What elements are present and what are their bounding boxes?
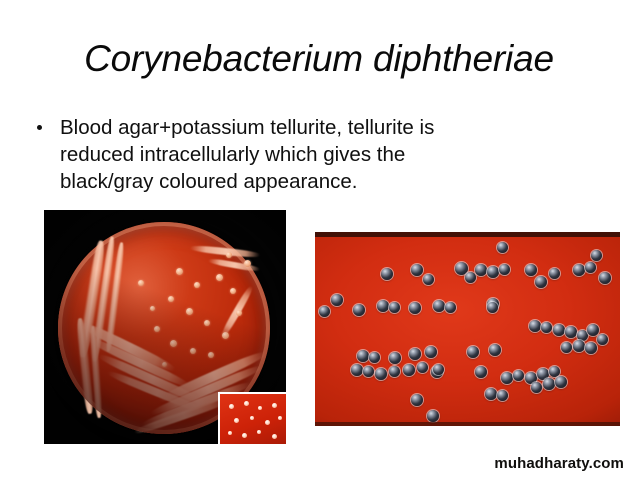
colony xyxy=(389,302,400,313)
inset-colony-dot xyxy=(229,404,234,409)
colony xyxy=(381,268,393,280)
inset-colony-dot xyxy=(234,418,239,423)
photo-top-edge xyxy=(315,232,620,237)
colony xyxy=(475,366,487,378)
colony xyxy=(409,302,421,314)
inset-colony-dot xyxy=(272,403,277,408)
colony xyxy=(487,302,498,313)
colony xyxy=(501,372,513,384)
inset-colony-dot xyxy=(278,416,282,420)
colony xyxy=(467,346,479,358)
inset-colony-dot xyxy=(242,433,247,438)
colony xyxy=(489,344,501,356)
colony xyxy=(425,346,437,358)
colony xyxy=(513,370,524,381)
colony xyxy=(357,350,369,362)
colony xyxy=(485,388,497,400)
colony xyxy=(529,320,541,332)
colony xyxy=(587,324,599,336)
page-title: Corynebacterium diphtheriae xyxy=(0,38,638,80)
colony xyxy=(331,294,343,306)
colony xyxy=(423,274,434,285)
tellurite-colonies-image xyxy=(313,230,622,428)
colony xyxy=(351,364,363,376)
colony xyxy=(565,326,577,338)
colony xyxy=(433,364,444,375)
colony xyxy=(319,306,330,317)
inset-colony-dot xyxy=(272,434,277,439)
colony xyxy=(375,368,387,380)
slide-canvas: Corynebacterium diphtheriae Blood agar+p… xyxy=(0,0,638,479)
colony xyxy=(541,322,552,333)
colony xyxy=(497,390,508,401)
colony xyxy=(389,366,400,377)
colony xyxy=(353,304,365,316)
bullet-dot-icon xyxy=(37,125,42,130)
colony xyxy=(403,364,415,376)
colony xyxy=(599,272,611,284)
colony xyxy=(363,366,374,377)
colony xyxy=(543,378,555,390)
colony xyxy=(411,264,423,276)
photo-bottom-edge xyxy=(315,422,620,426)
colony xyxy=(525,264,537,276)
inset-colony-dot xyxy=(250,416,254,420)
colony xyxy=(427,410,439,422)
colony xyxy=(417,362,428,373)
colony xyxy=(465,272,476,283)
colony xyxy=(591,250,602,261)
colony xyxy=(573,340,585,352)
colony xyxy=(445,302,456,313)
watermark: muhadharaty.com xyxy=(494,455,624,472)
inset-colony-dot xyxy=(228,431,232,435)
petri-photo-background xyxy=(44,210,286,444)
list-item: Blood agar+potassium tellurite, tellurit… xyxy=(30,114,500,195)
colony-closeup-inset xyxy=(218,392,286,444)
inset-colony-dot xyxy=(244,401,249,406)
inset-colony-dot xyxy=(265,420,270,425)
colony xyxy=(561,342,572,353)
colony xyxy=(369,352,380,363)
colony xyxy=(531,382,542,393)
colony xyxy=(497,242,508,253)
colony xyxy=(553,324,565,336)
colony xyxy=(409,348,421,360)
colony xyxy=(433,300,445,312)
petri-dish-image xyxy=(44,210,286,444)
colony xyxy=(411,394,423,406)
colony xyxy=(549,268,560,279)
colony xyxy=(555,376,567,388)
colony xyxy=(389,352,401,364)
colony xyxy=(573,264,585,276)
colony xyxy=(585,262,596,273)
colony xyxy=(475,264,487,276)
colony xyxy=(499,264,510,275)
colony xyxy=(597,334,608,345)
body-content: Blood agar+potassium tellurite, tellurit… xyxy=(30,114,500,195)
inset-colony-dot xyxy=(257,430,261,434)
colony xyxy=(585,342,597,354)
agar-surface xyxy=(315,232,620,426)
colony xyxy=(487,266,499,278)
colony xyxy=(377,300,389,312)
bullet-text: Blood agar+potassium tellurite, tellurit… xyxy=(60,116,434,193)
colony xyxy=(535,276,547,288)
inset-colony-dot xyxy=(258,406,262,410)
